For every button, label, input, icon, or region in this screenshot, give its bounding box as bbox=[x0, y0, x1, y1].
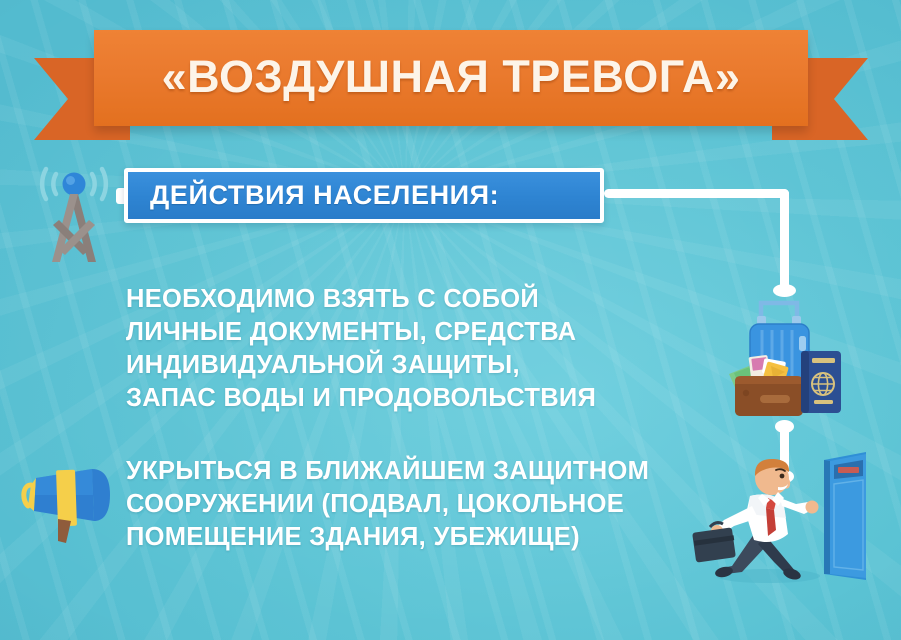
instruction-line: СООРУЖЕНИИ (ПОДВАЛ, ЦОКОЛЬНОЕ bbox=[126, 488, 649, 521]
infographic-poster: «ВОЗДУШНАЯ ТРЕВОГА» ДЕЙСТВИЯ НАСЕЛЕНИЯ: bbox=[0, 0, 901, 640]
instruction-line: ИНДИВИДУАЛЬНОЙ ЗАЩИТЫ, bbox=[126, 349, 596, 382]
shelter-door bbox=[824, 452, 866, 580]
heading-box: ДЕЙСТВИЯ НАСЕЛЕНИЯ: bbox=[124, 168, 604, 223]
title-ribbon: «ВОЗДУШНАЯ ТРЕВОГА» bbox=[34, 30, 868, 140]
megaphone-icon bbox=[14, 455, 124, 547]
connector-vertical-top bbox=[780, 189, 789, 292]
instruction-line: ЛИЧНЫЕ ДОКУМЕНТЫ, СРЕДСТВА bbox=[126, 316, 596, 349]
running-businessman-to-shelter-door-illustration bbox=[688, 448, 874, 596]
suitcase-wallet-passport-illustration bbox=[713, 296, 861, 424]
heading-label: ДЕЙСТВИЯ НАСЕЛЕНИЯ: bbox=[128, 180, 499, 211]
instruction-line: НЕОБХОДИМО ВЗЯТЬ С СОБОЙ bbox=[126, 283, 596, 316]
radio-tower-icon bbox=[26, 158, 122, 266]
instruction-line: ПОМЕЩЕНИЕ ЗДАНИЯ, УБЕЖИЩЕ) bbox=[126, 521, 649, 554]
connector-horizontal bbox=[604, 189, 789, 198]
poster-title: «ВОЗДУШНАЯ ТРЕВОГА» bbox=[94, 30, 808, 126]
instruction-block-take-shelter: УКРЫТЬСЯ В БЛИЖАЙШЕМ ЗАЩИТНОМ СООРУЖЕНИИ… bbox=[126, 455, 649, 554]
instruction-line: ЗАПАС ВОДЫ И ПРОДОВОЛЬСТВИЯ bbox=[126, 382, 596, 415]
instruction-line: УКРЫТЬСЯ В БЛИЖАЙШЕМ ЗАЩИТНОМ bbox=[126, 455, 649, 488]
instruction-block-take-with-you: НЕОБХОДИМО ВЗЯТЬ С СОБОЙ ЛИЧНЫЕ ДОКУМЕНТ… bbox=[126, 283, 596, 415]
ribbon-body: «ВОЗДУШНАЯ ТРЕВОГА» bbox=[94, 30, 808, 126]
